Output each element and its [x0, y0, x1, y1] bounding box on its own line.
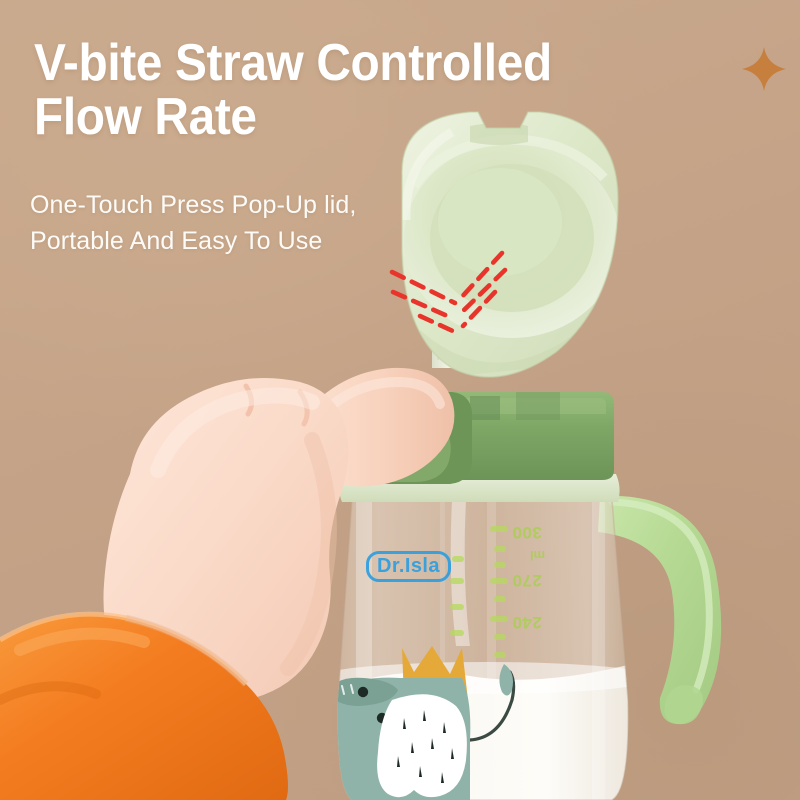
page-subtitle: One-Touch Press Pop-Up lid, Portable And…	[30, 188, 460, 259]
page-title: V-bite Straw Controlled Flow Rate	[34, 36, 678, 144]
product-marketing-poster: Dr.Isla 300 ml 270 240	[0, 0, 800, 800]
four-point-star-sparkle	[742, 47, 786, 91]
